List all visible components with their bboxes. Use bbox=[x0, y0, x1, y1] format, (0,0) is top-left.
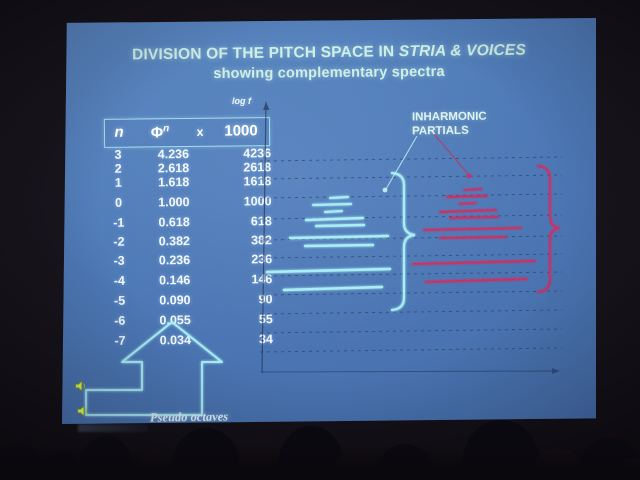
inharmonic-line-2: PARTIALS bbox=[412, 124, 487, 139]
faint-text-smudge bbox=[78, 424, 148, 432]
brace-right-spectrum bbox=[538, 166, 560, 292]
spectra-plot bbox=[62, 18, 596, 424]
inharmonic-partials-label: INHARMONIC PARTIALS bbox=[412, 110, 487, 139]
foreground-shadow bbox=[0, 446, 640, 480]
speaker-icon[interactable] bbox=[76, 404, 90, 418]
spectrum-right-red bbox=[413, 189, 535, 282]
gridlines bbox=[260, 157, 562, 352]
brace-left-spectrum bbox=[392, 173, 415, 310]
pseudo-octaves-arrow bbox=[86, 322, 222, 415]
callout-leaders bbox=[383, 134, 472, 192]
y-axis bbox=[262, 102, 270, 373]
spectrum-left-cyan bbox=[267, 197, 390, 290]
projected-slide: DIVISION OF THE PITCH SPACE IN STRIA & V… bbox=[62, 18, 596, 424]
speaker-icon[interactable] bbox=[74, 379, 88, 393]
inharmonic-line-1: INHARMONIC bbox=[412, 110, 487, 125]
screenshot-root: DIVISION OF THE PITCH SPACE IN STRIA & V… bbox=[0, 0, 640, 480]
x-axis bbox=[262, 368, 560, 374]
